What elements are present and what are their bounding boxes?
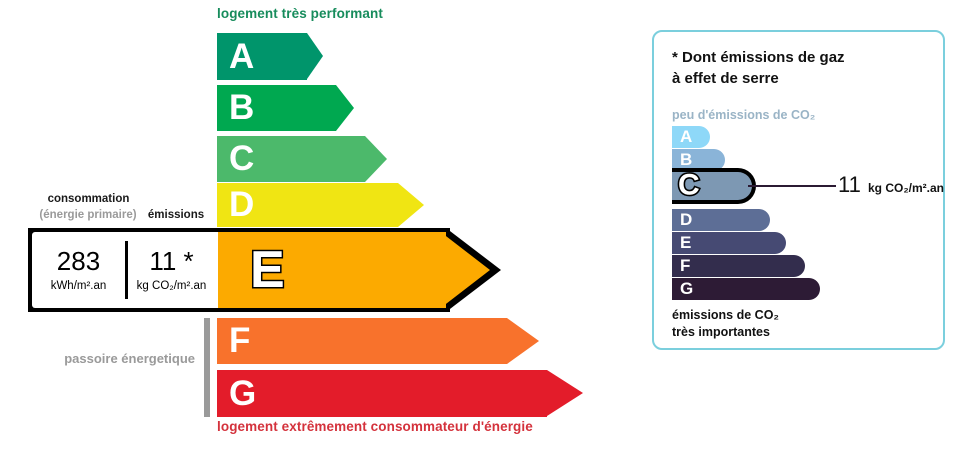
energy-bar-shape: D bbox=[217, 183, 424, 227]
co2-bar-e: E bbox=[672, 232, 786, 254]
energy-bar-arrow bbox=[307, 33, 323, 79]
label-emissions: émissions bbox=[140, 209, 212, 221]
energy-bar-b: B bbox=[217, 85, 354, 131]
energy-scale-top-caption: logement très performant bbox=[217, 6, 383, 21]
energy-current-grade-row: 283 kWh/m².an 11 * kg CO₂/m².an E bbox=[28, 228, 473, 312]
energy-bar-shape: G bbox=[217, 370, 583, 417]
energy-bar-shape: A bbox=[217, 33, 323, 80]
energy-bar-body bbox=[217, 370, 547, 417]
consumption-cell: 283 kWh/m².an bbox=[32, 232, 125, 308]
co2-bar-letter: E bbox=[680, 234, 691, 251]
energy-scale-bottom-caption: logement extrêmement consommateur d'éner… bbox=[217, 419, 533, 434]
co2-bar-letter: D bbox=[680, 211, 692, 228]
energy-bar-letter: F bbox=[229, 323, 250, 358]
emission-cell: 11 * kg CO₂/m².an bbox=[125, 232, 218, 308]
passoire-energetique-bracket bbox=[204, 318, 210, 417]
consumption-value: 283 bbox=[57, 248, 100, 275]
co2-value: 11 bbox=[838, 174, 861, 196]
consumption-unit: kWh/m².an bbox=[51, 280, 107, 292]
energy-bar-letter: C bbox=[229, 141, 254, 176]
energy-bar-d: D bbox=[217, 183, 424, 227]
energy-current-grade-arrow-fill bbox=[442, 233, 490, 307]
co2-bar-letter: A bbox=[680, 128, 692, 145]
energy-values-box: 283 kWh/m².an 11 * kg CO₂/m².an bbox=[28, 228, 218, 312]
emission-value: 11 * bbox=[149, 248, 193, 275]
energy-bar-letter: G bbox=[229, 375, 256, 410]
energy-bar-letter: B bbox=[229, 90, 254, 125]
emission-unit: kg CO₂/m².an bbox=[137, 280, 207, 292]
co2-bar-shape bbox=[672, 255, 805, 277]
energy-bar-shape: B bbox=[217, 85, 354, 131]
co2-bar-letter: G bbox=[680, 280, 693, 297]
energy-bar-arrow bbox=[507, 318, 539, 364]
energy-bar-arrow bbox=[547, 370, 583, 416]
energy-bar-shape: F bbox=[217, 318, 539, 364]
co2-bar-c: C bbox=[672, 168, 756, 204]
co2-bar-g: G bbox=[672, 278, 820, 300]
energy-bar-arrow bbox=[365, 136, 387, 182]
co2-bar-a: A bbox=[672, 126, 710, 148]
energy-bar-letter: D bbox=[229, 187, 254, 222]
co2-bar-letter: B bbox=[680, 151, 692, 168]
energy-bar-arrow bbox=[398, 183, 424, 227]
co2-panel-title: * Dont émissions de gaz à effet de serre bbox=[672, 48, 845, 89]
passoire-energetique-label: passoire énergetique bbox=[60, 350, 195, 368]
energy-bar-f: F bbox=[217, 318, 539, 364]
energy-bar-c: C bbox=[217, 136, 387, 182]
label-consommation: consommation bbox=[36, 193, 141, 205]
co2-leader-line bbox=[748, 185, 836, 187]
energy-bar-arrow bbox=[336, 85, 354, 131]
co2-value-unit: kg CO₂/m².an bbox=[868, 181, 944, 195]
energy-current-grade-letter: E bbox=[250, 244, 285, 296]
co2-bar-letter: F bbox=[680, 257, 690, 274]
co2-bar-shape bbox=[672, 278, 820, 300]
co2-bar-d: D bbox=[672, 209, 770, 231]
energy-bar-body bbox=[217, 318, 507, 364]
energy-bar-a: A bbox=[217, 33, 323, 80]
label-energie-primaire: (énergie primaire) bbox=[28, 209, 148, 221]
energy-bar-letter: A bbox=[229, 38, 254, 73]
co2-panel-footer: émissions de CO₂ très importantes bbox=[672, 307, 779, 341]
co2-panel-subtitle: peu d'émissions de CO₂ bbox=[672, 108, 815, 122]
energy-bar-shape: C bbox=[217, 136, 387, 182]
co2-bar-f: F bbox=[672, 255, 805, 277]
co2-bar-letter: C bbox=[678, 170, 700, 200]
energy-bar-g: G bbox=[217, 370, 583, 417]
